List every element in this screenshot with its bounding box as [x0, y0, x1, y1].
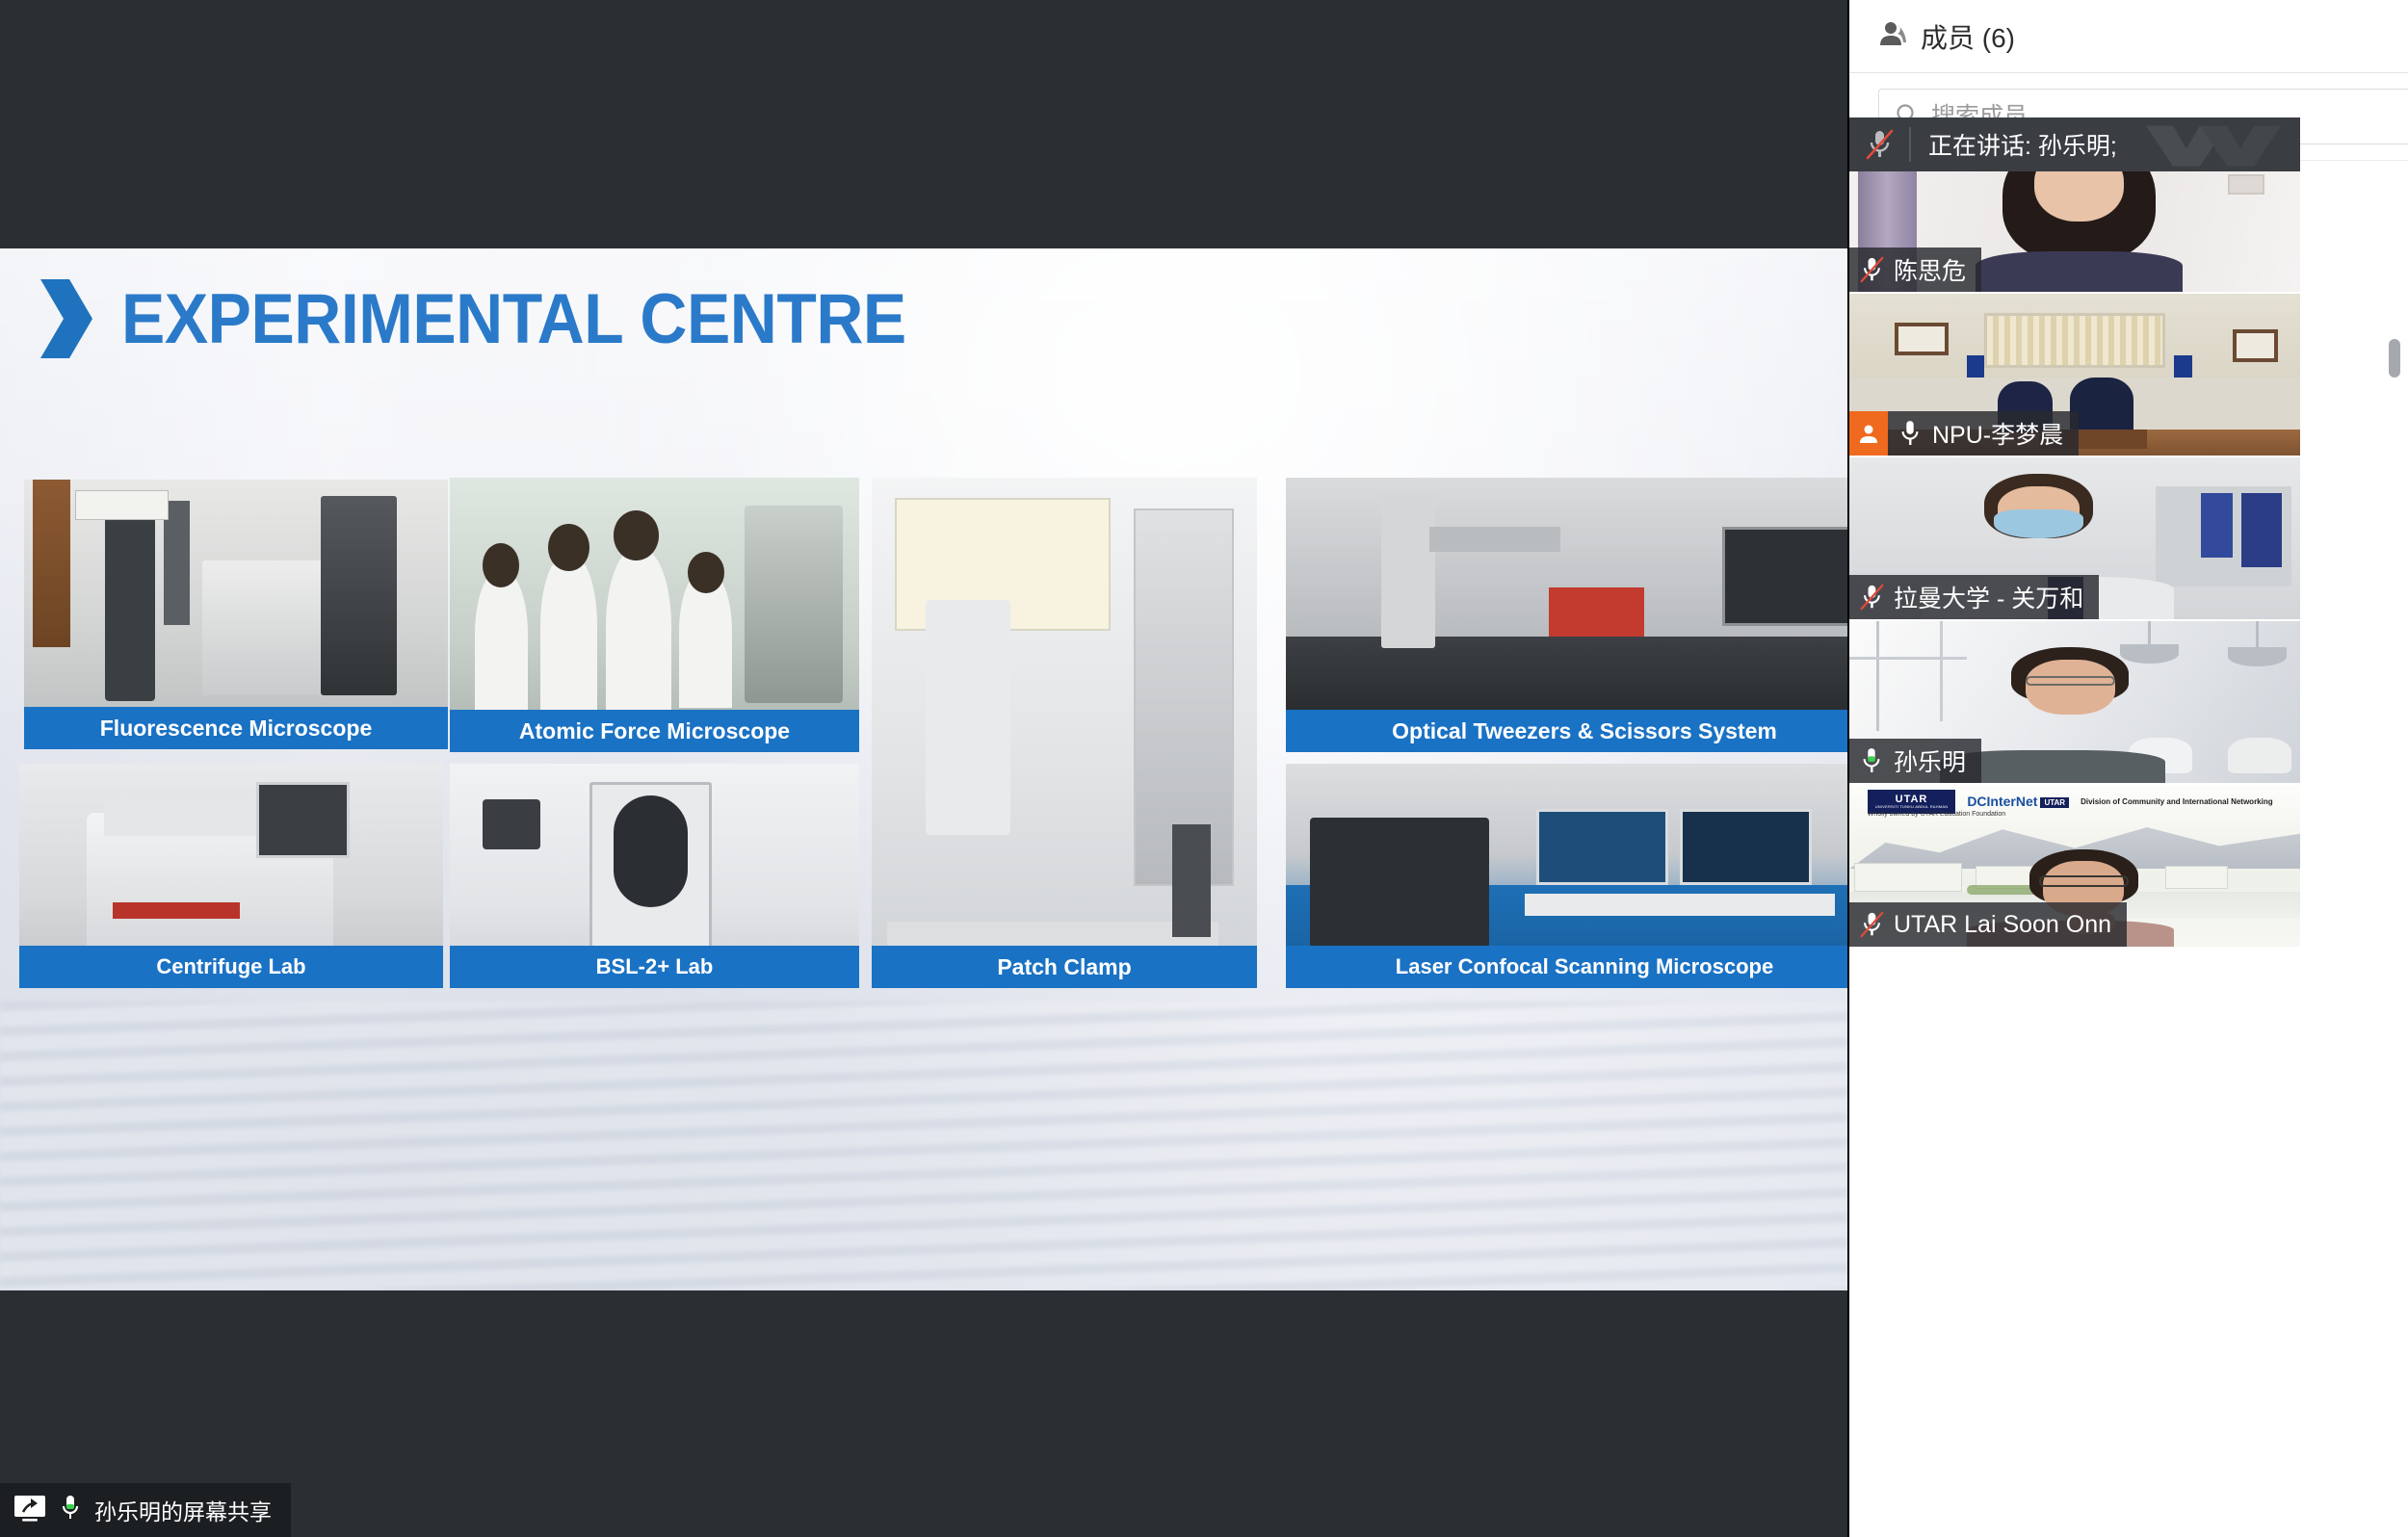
- equipment-caption: Centrifuge Lab: [19, 946, 443, 988]
- equipment-caption: Laser Confocal Scanning Microscope: [1286, 946, 1847, 988]
- page-title: EXPERIMENTAL CENTRE: [121, 279, 906, 359]
- mic-on-icon: [1888, 419, 1932, 448]
- equipment-photo: [872, 478, 1257, 988]
- participant-name: 陈思危: [1894, 252, 1966, 287]
- equipment-card-fluorescence-microscope: Fluorescence Microscope: [24, 480, 448, 749]
- dcinternet-text: DCInterNet: [1967, 794, 2037, 809]
- participant-name-bar: 孙乐明: [1849, 739, 1981, 783]
- equipment-caption: Atomic Force Microscope: [450, 710, 859, 752]
- equipment-card-optical-tweezers: Optical Tweezers & Scissors System: [1286, 478, 1847, 752]
- screen-share-icon: [13, 1495, 46, 1526]
- participant-name-bar: NPU-李梦晨: [1849, 411, 2079, 456]
- chevron-right-icon: [37, 277, 96, 360]
- panel-scrollbar[interactable]: [2391, 0, 2404, 1537]
- equipment-caption: Patch Clamp: [872, 946, 1257, 988]
- equipment-caption: BSL-2+ Lab: [450, 946, 859, 988]
- dcinternet-logo: DCInterNetUTAR: [1967, 794, 2069, 809]
- equipment-card-centrifuge-lab: Centrifuge Lab: [19, 764, 443, 988]
- participant-tile-utar-lai-soon-onn[interactable]: UTAR UNIVERSITI TUNKU ABDUL RAHMAN DCInt…: [1849, 785, 2300, 947]
- participant-name: 拉曼大学 - 关万和: [1894, 580, 2083, 614]
- division-text: Division of Community and International …: [2081, 797, 2273, 806]
- mic-off-icon: [1849, 583, 1894, 612]
- equipment-caption: Fluorescence Microscope: [24, 707, 448, 749]
- equipment-caption: Optical Tweezers & Scissors System: [1286, 710, 1847, 752]
- participants-panel[interactable]: 成员 (6): [1849, 0, 2408, 1537]
- utar-logo: UTAR UNIVERSITI TUNKU ABDUL RAHMAN: [1868, 790, 1956, 813]
- participants-count-label: 成员 (6): [1921, 17, 2015, 56]
- zoom-watermark-icon: [2140, 117, 2285, 171]
- participant-video-list[interactable]: 陈思危: [1849, 123, 2408, 1537]
- participant-name: NPU-李梦晨: [1932, 416, 2063, 451]
- equipment-card-patch-clamp: Patch Clamp: [872, 478, 1257, 988]
- participant-name: UTAR Lai Soon Onn: [1894, 911, 2111, 939]
- active-speaker-text: 正在讲话: 孙乐明;: [1928, 127, 2117, 162]
- participant-tile-sun-leming[interactable]: 孙乐明: [1849, 621, 2300, 783]
- utar-logo-subtitle: UNIVERSITI TUNKU ABDUL RAHMAN: [1875, 805, 1949, 809]
- mic-off-icon: [1849, 910, 1894, 939]
- participant-name-bar: 陈思危: [1849, 247, 1981, 292]
- mic-off-icon: [1849, 255, 1894, 284]
- panel-scrollbar-thumb[interactable]: [2389, 339, 2400, 378]
- slide-title-row: EXPERIMENTAL CENTRE: [37, 277, 965, 360]
- participant-name: 孙乐明: [1894, 743, 1966, 778]
- banner-separator: [1909, 127, 1911, 162]
- mic-on-icon: [60, 1494, 81, 1527]
- zoom-meeting-window: EXPERIMENTAL CENTRE Fluorescence Microsc…: [0, 0, 2408, 1537]
- participant-name-bar: 拉曼大学 - 关万和: [1849, 575, 2099, 619]
- mic-off-icon: [1849, 128, 1909, 161]
- presentation-slide: EXPERIMENTAL CENTRE Fluorescence Microsc…: [0, 248, 1847, 1290]
- participants-header: 成员 (6): [1849, 0, 2408, 73]
- host-person-icon: [1849, 411, 1888, 456]
- screen-share-status-text: 孙乐明的屏幕共享: [94, 1494, 272, 1526]
- participant-tile-utar-guan-wanhe[interactable]: 拉曼大学 - 关万和: [1849, 457, 2300, 619]
- active-speaker-banner: 正在讲话: 孙乐明;: [1849, 117, 2300, 171]
- mic-on-icon: [1849, 746, 1894, 775]
- people-icon: [1878, 19, 1907, 53]
- equipment-card-bsl2-lab: BSL-2+ Lab: [450, 764, 859, 988]
- equipment-card-atomic-force-microscope: Atomic Force Microscope: [450, 478, 859, 752]
- participant-name-bar: UTAR Lai Soon Onn: [1849, 902, 2127, 947]
- utar-logo-row: UTAR UNIVERSITI TUNKU ABDUL RAHMAN DCInt…: [1868, 790, 2283, 813]
- utar-owned-by-text: Wholly owned by UTAR Education Foundatio…: [1868, 811, 2005, 818]
- equipment-card-laser-confocal-microscope: Laser Confocal Scanning Microscope: [1286, 764, 1847, 988]
- dcinternet-badge: UTAR: [2040, 797, 2069, 808]
- equipment-photo-grid: Fluorescence Microscope Atomic F: [0, 248, 1847, 1290]
- shared-screen-area[interactable]: EXPERIMENTAL CENTRE Fluorescence Microsc…: [0, 0, 1847, 1537]
- screen-share-status-bar: 孙乐明的屏幕共享: [0, 1483, 291, 1537]
- participant-tile-npu-li-mengchen[interactable]: NPU-李梦晨: [1849, 294, 2300, 456]
